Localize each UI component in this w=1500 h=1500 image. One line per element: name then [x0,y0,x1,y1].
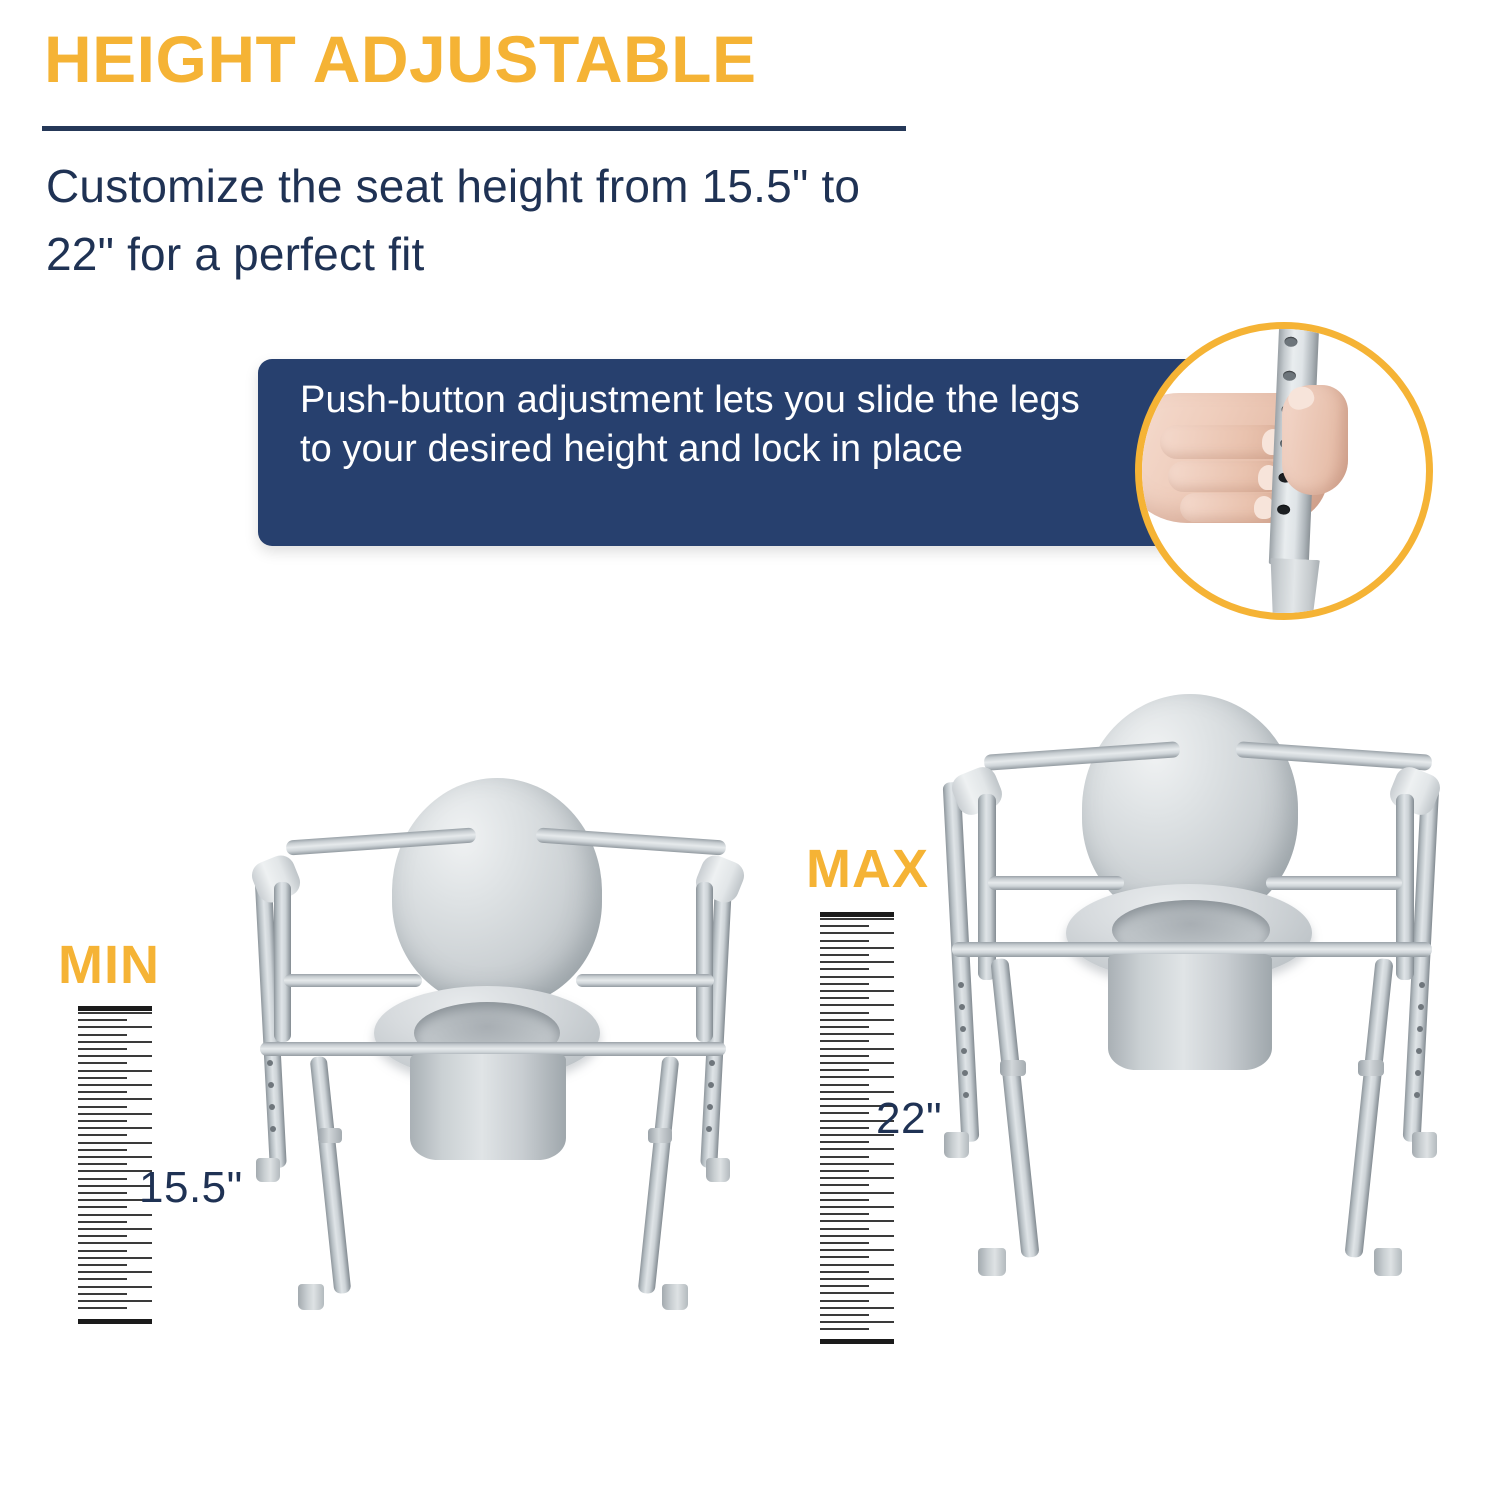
ruler-cap-top [78,1006,152,1011]
infographic-page: HEIGHT ADJUSTABLE Customize the seat hei… [0,0,1500,1500]
leg-tip-rear-left [944,1132,969,1158]
bariatric-commode-chair-min-height [250,770,750,1350]
adjustment-hole [708,1082,714,1088]
adjustment-hole [707,1104,713,1110]
commode-bucket [410,1054,566,1160]
adjustment-hole [1415,1070,1421,1076]
feature-callout-box: Push-button adjustment lets you slide th… [258,359,1208,546]
adjustment-hole [1419,982,1425,988]
adjustment-hole [268,1082,274,1088]
title-divider [42,126,906,131]
page-title: HEIGHT ADJUSTABLE [44,26,944,92]
adjustment-hole [1414,1092,1420,1098]
leg-tip-front-right [1374,1248,1402,1276]
side-rail-right [576,974,714,987]
leg-tip-rear-right [1412,1132,1437,1158]
front-leg-left [310,1056,352,1294]
adjustment-hole [962,1070,968,1076]
leg-tip-rear-right [706,1158,730,1182]
leg-collar-right [648,1128,672,1143]
rubber-leg-tip [1265,558,1323,615]
bariatric-commode-chair-max-height [930,690,1450,1350]
adjustment-hole [961,1048,967,1054]
adjustment-hole [269,1104,275,1110]
feature-callout-text: Push-button adjustment lets you slide th… [300,376,1120,473]
side-rail-right [1266,876,1402,890]
adjustment-hole [1283,370,1296,381]
leg-collar-left [1000,1060,1026,1076]
adjustment-hole [959,1004,965,1010]
adjustment-hole [960,1026,966,1032]
adjustment-hole [1418,1004,1424,1010]
adjustment-hole [958,982,964,988]
leg-tip-front-right [662,1284,688,1310]
hand-adjusting-leg-photo [1135,322,1433,620]
ruler-cap-bottom [820,1339,894,1344]
adjustment-hole [1416,1048,1422,1054]
adjustment-hole [706,1126,712,1132]
front-leg-left [990,958,1039,1258]
leg-collar-left [318,1128,342,1143]
leg-tip-front-left [978,1248,1006,1276]
leg-tip-front-left [298,1284,324,1310]
adjustment-hole [709,1060,715,1066]
max-height-label: MAX [806,838,929,900]
ruler-cap-bottom [78,1319,152,1324]
ruler-cap-top [820,912,894,917]
adjustment-hole [963,1092,969,1098]
adjustment-hole [1277,504,1290,515]
front-leg-right [638,1056,680,1294]
adjustment-hole [270,1126,276,1132]
front-upright-left [274,882,291,1042]
front-leg-right [1344,958,1393,1258]
front-upright-right [696,882,713,1042]
min-height-measurement: 15.5" [139,1163,243,1213]
side-rail-left [284,974,422,987]
adjustment-hole [267,1060,273,1066]
min-height-label: MIN [58,934,160,996]
adjustment-hole [1284,336,1297,347]
adjustment-hole [1417,1026,1423,1032]
rear-leg-left [943,782,980,1142]
leg-tip-rear-left [256,1158,280,1182]
page-subtitle: Customize the seat height from 15.5" to … [46,152,926,288]
side-rail-left [988,876,1124,890]
commode-bucket [1108,954,1272,1070]
commode-lid [392,778,602,1006]
leg-collar-right [1358,1060,1384,1076]
